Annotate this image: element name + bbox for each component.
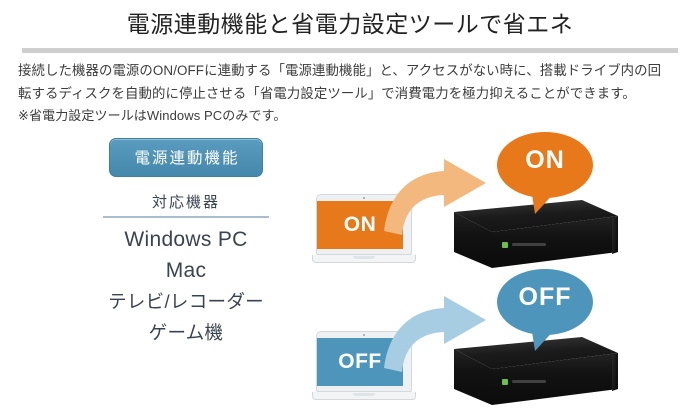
supported-devices-heading: 対応機器 <box>78 191 294 212</box>
device-list-item-tv-recorder: テレビ/レコーダー <box>78 286 294 317</box>
speech-bubble-off-label: OFF <box>495 283 595 312</box>
power-link-illustration: ON <box>300 132 700 409</box>
feature-badge-power-link: 電源連動機能 <box>109 138 262 177</box>
supported-devices-list: Windows PC Mac テレビ/レコーダー ゲーム機 <box>78 224 294 348</box>
speech-bubble-off: OFF <box>495 267 601 353</box>
page-title: 電源連動機能と省電力設定ツールで省エネ <box>0 8 700 40</box>
title-divider <box>22 48 678 53</box>
device-list-item-mac: Mac <box>78 255 294 286</box>
description-line-2: 転するディスクを自動的に停止させる「省電力設定ツール」で消費電力を極力抑えること… <box>18 83 686 106</box>
laptop-camera-icon <box>363 197 365 199</box>
illustration-row-off: OFF <box>300 269 700 407</box>
speech-bubble-on: ON <box>495 130 601 216</box>
illustration-row-on: ON <box>300 132 700 270</box>
description-note: ※省電力設定ツールはWindows PCのみです。 <box>18 105 686 128</box>
device-list-item-windows-pc: Windows PC <box>78 224 294 255</box>
laptop-notch <box>353 256 375 259</box>
description-line-1: 接続した機器の電源のON/OFFに連動する「電源連動機能」と、アクセスがない時に… <box>18 60 686 83</box>
supported-devices-panel: 電源連動機能 対応機器 Windows PC Mac テレビ/レコーダー ゲーム… <box>78 138 294 348</box>
supported-devices-divider <box>103 216 269 218</box>
device-list-item-game-console: ゲーム機 <box>78 317 294 348</box>
laptop-notch <box>353 393 375 396</box>
laptop-camera-icon <box>363 334 365 336</box>
speech-bubble-on-label: ON <box>495 146 595 175</box>
description-paragraph: 接続した機器の電源のON/OFFに連動する「電源連動機能」と、アクセスがない時に… <box>18 60 686 128</box>
